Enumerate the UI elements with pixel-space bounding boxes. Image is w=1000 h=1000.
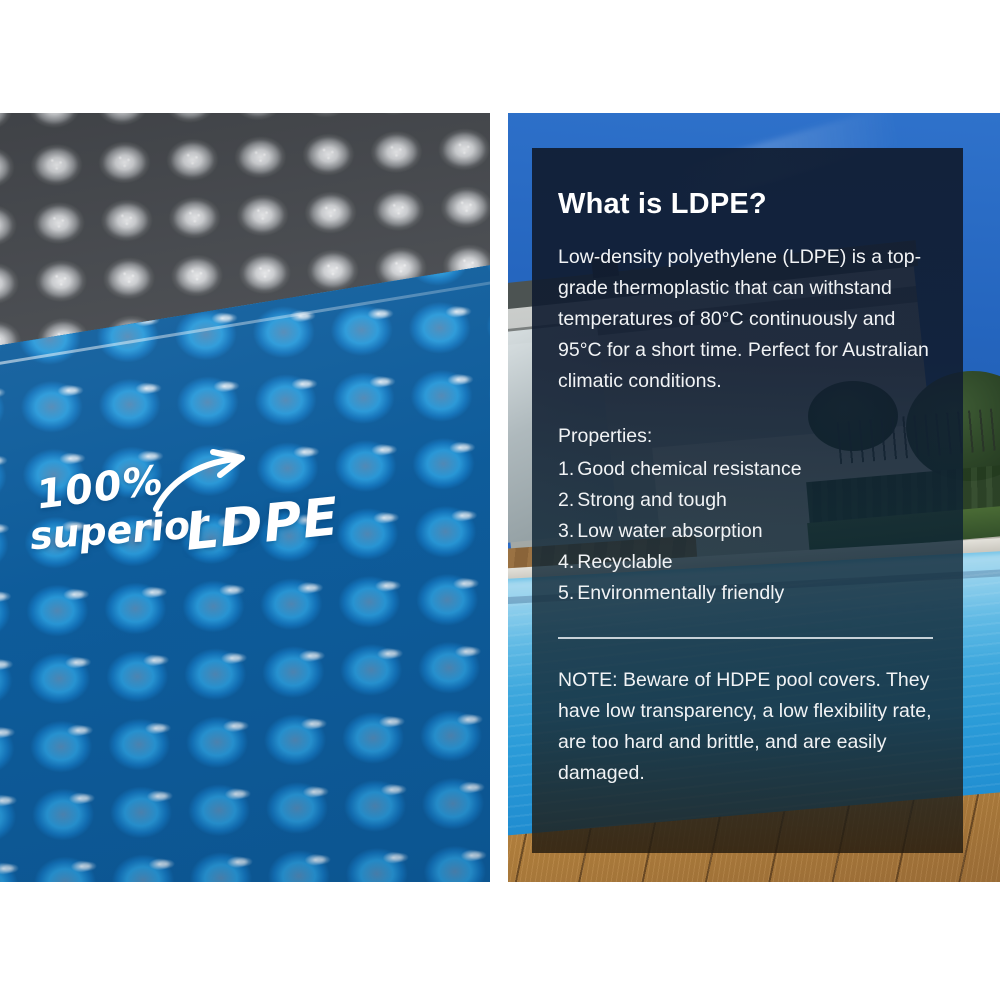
- properties-label: Properties:: [558, 421, 937, 452]
- section-divider: [558, 637, 933, 639]
- list-item-number: 4.: [558, 547, 574, 578]
- list-item-label: Low water absorption: [577, 516, 762, 547]
- list-item-number: 1.: [558, 454, 574, 485]
- list-item-number: 3.: [558, 516, 574, 547]
- card-title: What is LDPE?: [558, 188, 937, 221]
- list-item: 2. Strong and tough: [558, 485, 937, 516]
- list-item-label: Environmentally friendly: [577, 578, 784, 609]
- infographic-canvas: 100% superior LDPE What is LDPE? Low-den…: [0, 0, 1000, 1000]
- list-item-label: Strong and tough: [577, 485, 727, 516]
- ldpe-description-paragraph: Low-density polyethylene (LDPE) is a top…: [558, 242, 937, 397]
- right-photo-panel: What is LDPE? Low-density polyethylene (…: [508, 113, 1000, 882]
- left-photo-panel: 100% superior LDPE: [0, 113, 490, 882]
- list-item: 1. Good chemical resistance: [558, 454, 937, 485]
- properties-list: 1. Good chemical resistance 2. Strong an…: [558, 454, 937, 609]
- hdpe-warning-note: NOTE: Beware of HDPE pool covers. They h…: [558, 665, 937, 789]
- list-item: 5. Environmentally friendly: [558, 578, 937, 609]
- ldpe-info-card: What is LDPE? Low-density polyethylene (…: [532, 148, 963, 853]
- list-item-number: 2.: [558, 485, 574, 516]
- list-item-number: 5.: [558, 578, 574, 609]
- list-item: 3. Low water absorption: [558, 516, 937, 547]
- list-item-label: Good chemical resistance: [577, 454, 801, 485]
- list-item-label: Recyclable: [577, 547, 672, 578]
- list-item: 4. Recyclable: [558, 547, 937, 578]
